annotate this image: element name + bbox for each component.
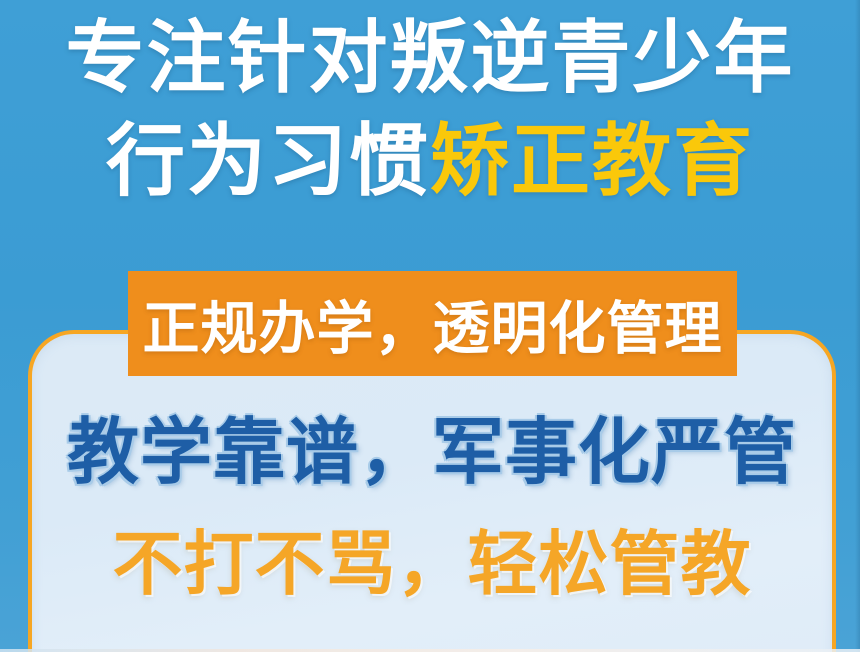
card-line-discipline: 不打不骂，轻松管教 [28, 508, 836, 609]
headline-line-2-highlight: 矫正教育 [430, 116, 754, 205]
headline-block: 专注针对叛逆青少年 行为习惯矫正教育 [0, 18, 860, 201]
card-line-teaching: 教学靠谱，军事化严管 [28, 393, 836, 498]
headline-line-2: 行为习惯矫正教育 [0, 121, 860, 202]
headline-line-2-plain: 行为习惯 [106, 116, 430, 205]
promo-poster: 专注针对叛逆青少年 行为习惯矫正教育 正规办学，透明化管理 教学靠谱，军事化严管… [0, 0, 860, 652]
headline-line-1: 专注针对叛逆青少年 [0, 18, 860, 99]
feature-banner: 正规办学，透明化管理 [128, 271, 737, 376]
feature-banner-text: 正规办学，透明化管理 [143, 283, 723, 365]
